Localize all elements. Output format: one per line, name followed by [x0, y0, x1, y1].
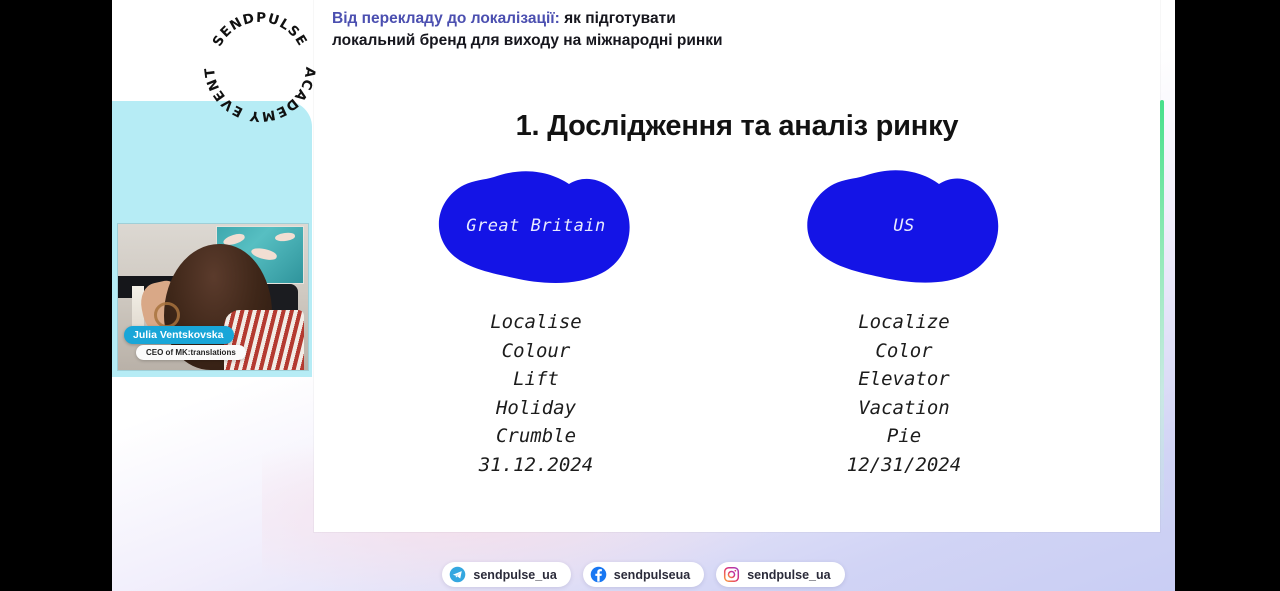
- list-item: Pie: [734, 422, 1074, 451]
- green-accent-line: [1160, 100, 1164, 530]
- instagram-icon: [723, 566, 740, 583]
- webcam-watermark-icon: [154, 302, 180, 328]
- list-item: Color: [734, 337, 1074, 366]
- list-item: Crumble: [366, 422, 706, 451]
- list-item: Localise: [366, 308, 706, 337]
- list-item: Localize: [734, 308, 1074, 337]
- social-handle-instagram: sendpulse_ua: [747, 568, 830, 582]
- speaker-webcam-tile[interactable]: Julia Ventskovska CEO of MK:translations: [118, 224, 308, 370]
- letterbox-bar-left: [0, 0, 112, 591]
- speaker-name-badge: Julia Ventskovska: [124, 326, 234, 344]
- letterbox-bar-right: [1175, 0, 1280, 591]
- logo-inner-text: ACADEMY EVENT: [202, 66, 318, 124]
- social-pill-facebook[interactable]: sendpulseua: [583, 562, 704, 587]
- list-item: Lift: [366, 365, 706, 394]
- list-item: 12/31/2024: [734, 451, 1074, 480]
- speaker-role-badge: CEO of MK:translations: [136, 345, 246, 360]
- social-pill-instagram[interactable]: sendpulse_ua: [716, 562, 844, 587]
- video-stage: SENDPULSE ACADEMY EVENT Від перекладу до…: [0, 0, 1280, 591]
- telegram-icon: [449, 566, 466, 583]
- list-item: Colour: [366, 337, 706, 366]
- slide-header-rest: як підготувати: [560, 10, 676, 27]
- social-handle-facebook: sendpulseua: [614, 568, 690, 582]
- list-item: Holiday: [366, 394, 706, 423]
- column-us: US Localize Color Elevator Vacation Pie …: [734, 168, 1074, 479]
- list-item: Elevator: [734, 365, 1074, 394]
- slide-header-accent: Від перекладу до локалізації:: [332, 10, 560, 27]
- word-list-great-britain: Localise Colour Lift Holiday Crumble 31.…: [366, 308, 706, 479]
- facebook-icon: [590, 566, 607, 583]
- social-handle-telegram: sendpulse_ua: [473, 568, 556, 582]
- slide-title: 1. Дослідження та аналіз ринку: [314, 110, 1160, 143]
- blob-us: US: [804, 168, 1004, 284]
- list-item: 31.12.2024: [366, 451, 706, 480]
- webcam-speaker-shirt: [224, 310, 304, 370]
- social-links-bar: sendpulse_ua sendpulseua: [112, 562, 1175, 587]
- slide-header: Від перекладу до локалізації: як підготу…: [332, 8, 1032, 53]
- blob-label-great-britain: Great Britain: [436, 168, 636, 284]
- sendpulse-academy-event-logo: SENDPULSE ACADEMY EVENT: [196, 2, 324, 130]
- logo-outer-text: SENDPULSE: [210, 10, 311, 50]
- column-great-britain: Great Britain Localise Colour Lift Holid…: [366, 168, 706, 479]
- slide-header-line2: локальний бренд для виходу на міжнародні…: [332, 32, 723, 49]
- word-list-us: Localize Color Elevator Vacation Pie 12/…: [734, 308, 1074, 479]
- social-pill-telegram[interactable]: sendpulse_ua: [442, 562, 570, 587]
- webinar-canvas: SENDPULSE ACADEMY EVENT Від перекладу до…: [112, 0, 1175, 591]
- list-item: Vacation: [734, 394, 1074, 423]
- presentation-slide: Від перекладу до локалізації: як підготу…: [314, 0, 1160, 532]
- blob-great-britain: Great Britain: [436, 168, 636, 284]
- blob-label-us: US: [804, 168, 1004, 284]
